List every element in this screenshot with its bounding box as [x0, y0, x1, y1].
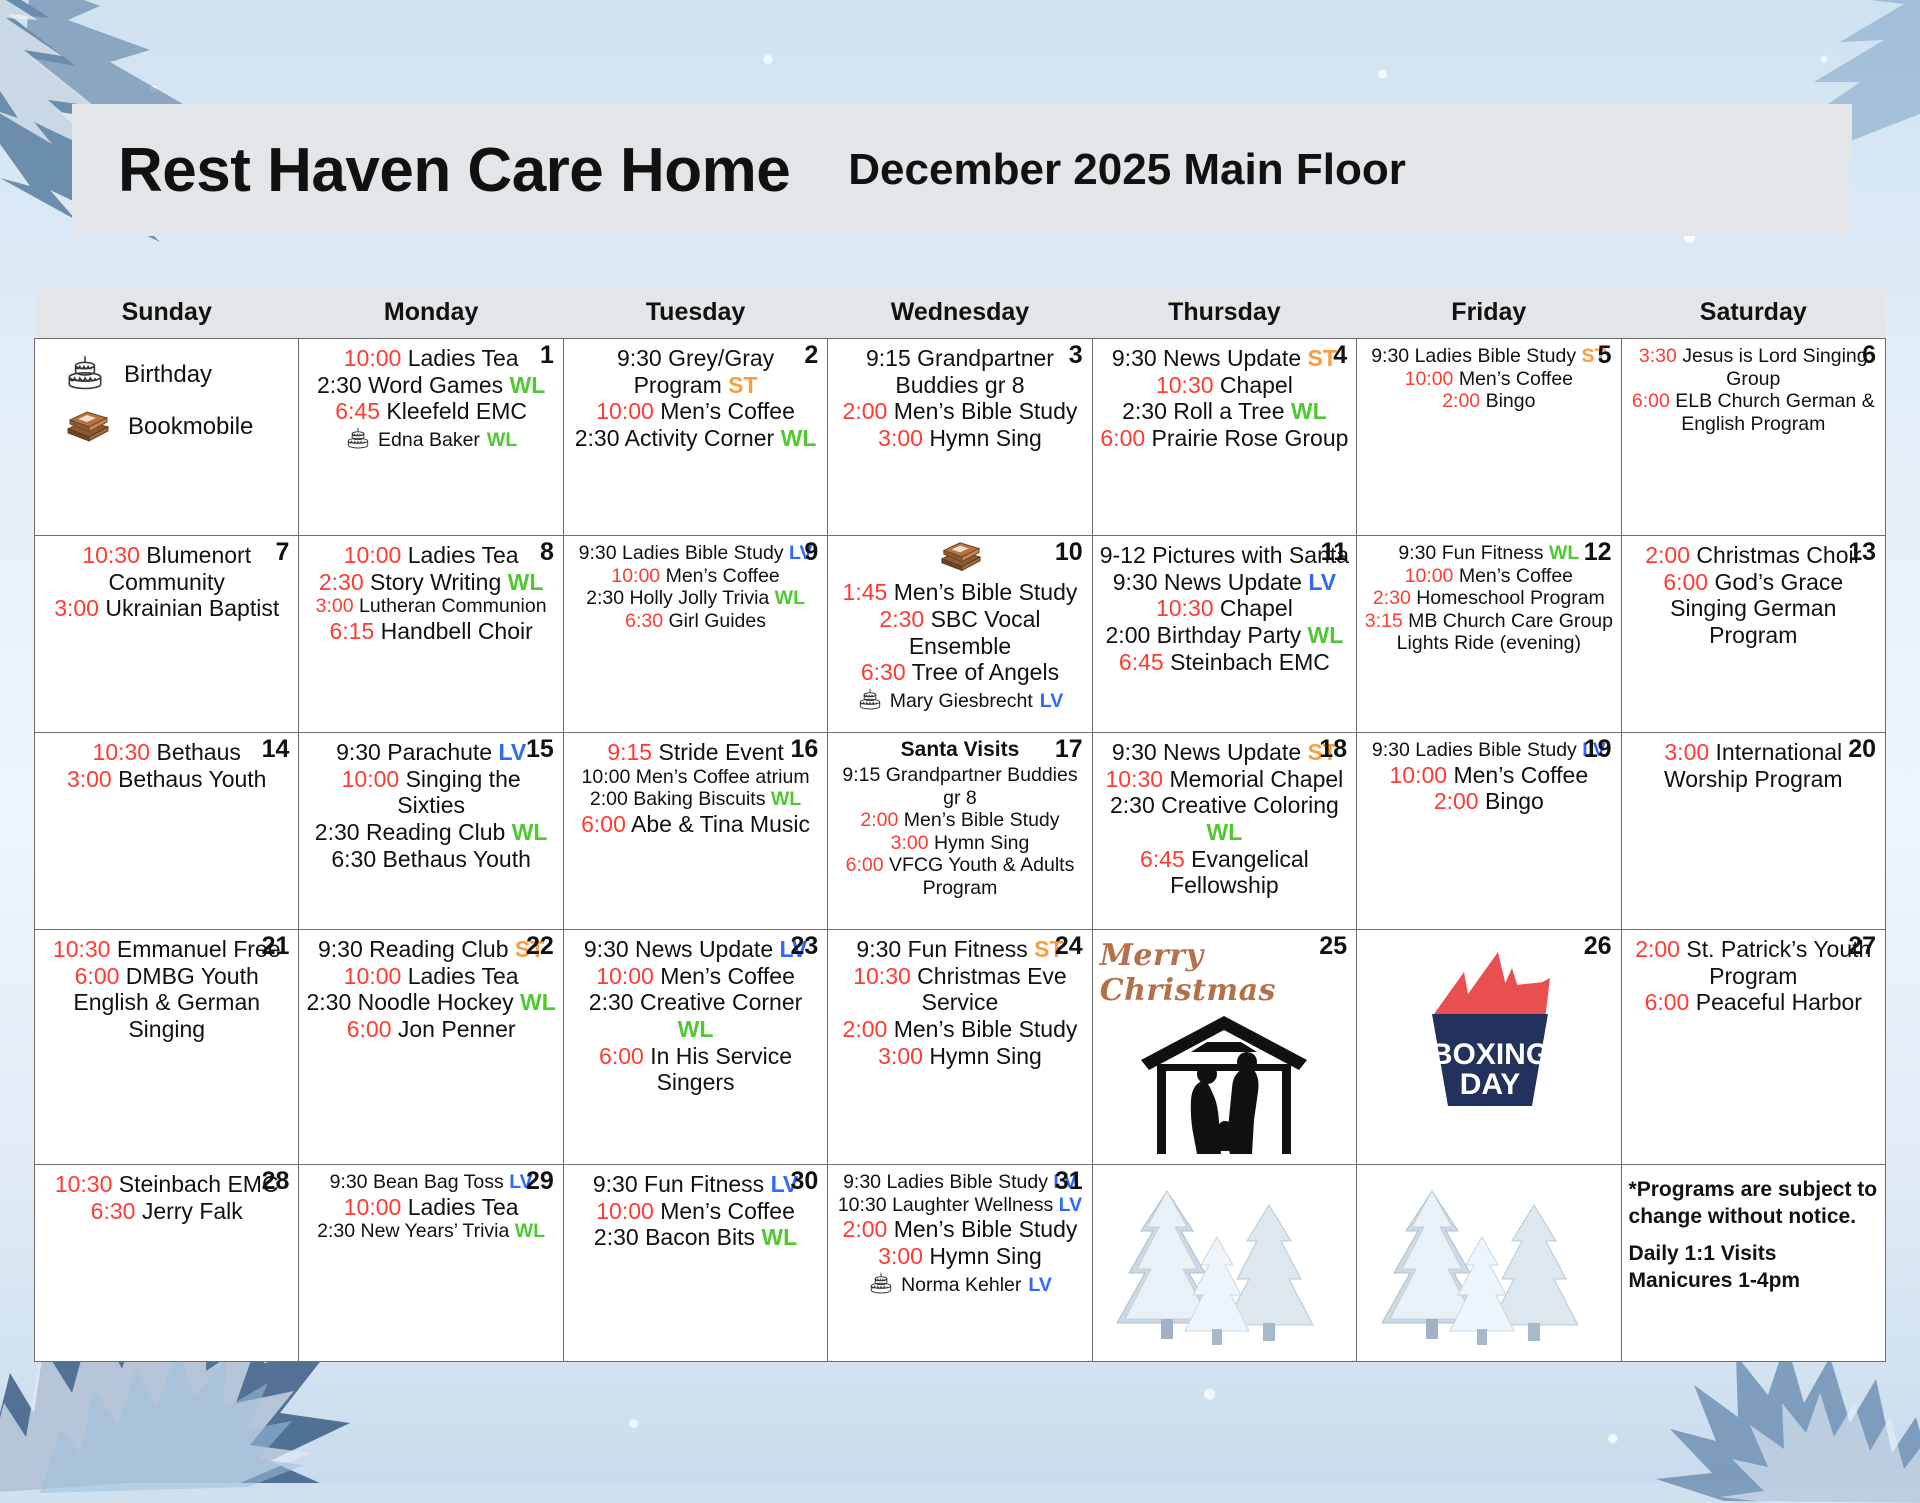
event-time: 2:00 — [1635, 936, 1680, 962]
event-title: Jon Penner — [398, 1016, 516, 1042]
day-events-list: 1:45 Men’s Bible Study2:30 SBC Vocal Ens… — [835, 579, 1084, 686]
calendar-day-cell-23[interactable]: 239:30 News Update LV10:00 Men’s Coffee2… — [563, 930, 827, 1165]
event-time: 9:30 — [1112, 739, 1157, 765]
event-entry: 2:30 Reading Club WL — [306, 819, 555, 846]
event-time: 3:00 — [891, 832, 929, 854]
event-time: 10:00 — [344, 1194, 402, 1220]
event-title: Tree of Angels — [912, 659, 1059, 685]
event-time: 3:15 — [1365, 610, 1403, 632]
program-tag-wl: WL — [520, 989, 556, 1015]
event-entry: 6:15 Handbell Choir — [306, 618, 555, 645]
event-title: ELB Church German & English Program — [1675, 390, 1874, 435]
program-tag-wl: WL — [775, 587, 805, 609]
event-time: 9:30 — [1113, 569, 1158, 595]
calendar-day-cell-16[interactable]: 169:15 Stride Event10:00 Men’s Coffee at… — [563, 733, 827, 930]
event-title: Ladies Tea — [408, 542, 519, 568]
event-time: 6:00 — [1100, 425, 1145, 451]
event-entry: 6:30 Tree of Angels — [835, 659, 1084, 686]
event-entry: 2:00 Baking Biscuits WL — [571, 788, 820, 811]
event-time: 9:30 — [336, 739, 381, 765]
event-time: 9:30 — [318, 936, 363, 962]
event-entry: 10:00 Ladies Tea — [306, 963, 555, 990]
day-number: 29 — [526, 1169, 554, 1194]
cake-icon — [64, 353, 106, 397]
event-title: Handbell Choir — [381, 618, 533, 644]
day-number: 12 — [1584, 540, 1612, 565]
event-title: Ladies Bible Study — [886, 1171, 1048, 1193]
calendar-day-cell-14[interactable]: 1410:30 Bethaus3:00 Bethaus Youth — [35, 733, 299, 930]
event-entry: 6:00 Prairie Rose Group — [1100, 425, 1349, 452]
calendar-day-cell-12[interactable]: 129:30 Fun Fitness WL10:00 Men’s Coffee2… — [1357, 536, 1621, 733]
event-entry: 3:00 International Worship Program — [1629, 739, 1878, 792]
event-entry: 2:30 Holly Jolly Trivia WL — [571, 587, 820, 610]
event-entry: 1:45 Men’s Bible Study — [835, 579, 1084, 606]
calendar-day-cell-30[interactable]: 309:30 Fun Fitness LV10:00 Men’s Coffee2… — [563, 1165, 827, 1362]
event-title: Ladies Tea — [408, 345, 519, 371]
calendar-day-cell-4[interactable]: 49:30 News Update ST10:30 Chapel2:30 Rol… — [1092, 339, 1356, 536]
program-tag-wl: WL — [1291, 398, 1327, 424]
calendar-day-cell-3[interactable]: 39:15 Grandpartner Buddies gr 82:00 Men’… — [828, 339, 1092, 536]
event-entry: 10:30 Emmanuel Free — [42, 936, 291, 963]
event-entry: 2:30 Noodle Hockey WL — [306, 989, 555, 1016]
event-title: Bethaus Youth — [383, 846, 531, 872]
event-time: 2:30 — [879, 606, 924, 632]
event-entry: 9:30 Ladies Bible Study ST — [1364, 345, 1613, 368]
event-entry: 9:30 Ladies Bible Study LV — [571, 542, 820, 565]
event-time: 3:00 — [878, 1243, 923, 1269]
event-entry: 6:00 Abe & Tina Music — [571, 811, 820, 838]
event-time: 2:30 — [1110, 792, 1155, 818]
event-time: 2:00 — [843, 1016, 888, 1042]
day-number: 19 — [1584, 737, 1612, 762]
event-time: 10:00 — [596, 963, 654, 989]
event-time: 9:30 — [617, 345, 662, 371]
event-entry: 3:00 Hymn Sing — [835, 1243, 1084, 1270]
event-entry: 6:00 In His Service Singers — [571, 1043, 820, 1096]
event-entry: 6:00 Jon Penner — [306, 1016, 555, 1043]
day-number: 6 — [1862, 343, 1876, 368]
event-entry: 2:30 Creative Coloring WL — [1100, 792, 1349, 845]
event-entry: 9:30 News Update LV — [1100, 569, 1349, 596]
event-entry: 2:30 New Years’ Trivia WL — [306, 1220, 555, 1243]
event-entry: 2:30 Story Writing WL — [306, 569, 555, 596]
event-time: 9:30 — [1371, 345, 1409, 367]
merry-christmas-text: Merry Christmas — [1100, 938, 1349, 1008]
event-entry: 9:30 Ladies Bible Study LV — [835, 1171, 1084, 1194]
calendar-day-cell-17[interactable]: 17Santa Visits9:15 Grandpartner Buddies … — [828, 733, 1092, 930]
event-entry: 10:30 Chapel — [1100, 372, 1349, 399]
snowy-pine-trees-icon — [1374, 1183, 1604, 1355]
day-events-list: 9:30 Fun Fitness WL10:00 Men’s Coffee2:3… — [1364, 542, 1613, 655]
event-entry: 9:30 Fun Fitness WL — [1364, 542, 1613, 565]
day-number: 30 — [790, 1169, 818, 1194]
event-title: Fun Fitness — [1442, 542, 1544, 564]
day-events-list: 9:15 Stride Event10:00 Men’s Coffee atri… — [571, 739, 820, 838]
program-tag-wl: WL — [508, 569, 544, 595]
event-title: Grandpartner Buddies gr 8 — [895, 345, 1054, 398]
weekday-header-thursday: Thursday — [1092, 290, 1356, 339]
event-title: Hymn Sing — [929, 425, 1041, 451]
event-title: Memorial Chapel — [1169, 766, 1343, 792]
event-time: 2:30 — [586, 587, 624, 609]
birthday-resident-name: Mary Giesbrecht — [890, 690, 1033, 713]
event-title: Pictures with Santa — [1152, 542, 1349, 568]
day-number: 27 — [1848, 934, 1876, 959]
event-title: Men’s Bible Study — [894, 1016, 1078, 1042]
event-time: 10:00 — [342, 766, 400, 792]
event-entry: 6:45 Steinbach EMC — [1100, 649, 1349, 676]
day-number: 5 — [1598, 343, 1612, 368]
calendar-day-cell-11[interactable]: 119-12 Pictures with Santa9:30 News Upda… — [1092, 536, 1356, 733]
event-entry: 2:30 Homeschool Program — [1364, 587, 1613, 610]
day-events-list: 2:00 St. Patrick’s Youth Program6:00 Pea… — [1629, 936, 1878, 1016]
legend-bookmobile-label: Bookmobile — [128, 413, 253, 441]
event-title: Christmas Choir — [1696, 542, 1861, 568]
day-events-list: 9:30 News Update LV10:00 Men’s Coffee2:3… — [571, 936, 820, 1096]
event-entry: 10:30 Christmas Eve Service — [835, 963, 1084, 1016]
event-entry: 10:00 Ladies Tea — [306, 542, 555, 569]
calendar-week-row: Birthday Bookmobile 110:00 Ladies Tea2:3… — [35, 339, 1886, 536]
day-cell-heading: Santa Visits — [835, 738, 1084, 762]
calendar-decoration-cell — [1357, 1165, 1621, 1362]
event-time: 9-12 — [1100, 542, 1146, 568]
event-title: Bingo — [1486, 390, 1536, 412]
event-title: Roll a Tree — [1173, 398, 1284, 424]
program-tag-st: ST — [728, 372, 757, 398]
weekday-header-saturday: Saturday — [1621, 290, 1885, 339]
event-entry: 3:00 Ukrainian Baptist — [42, 595, 291, 622]
program-tag-lv: LV — [1040, 690, 1063, 713]
event-title: Men’s Bible Study — [894, 398, 1078, 424]
calendar-week-row: 1410:30 Bethaus3:00 Bethaus Youth159:30 … — [35, 733, 1886, 930]
calendar-day-cell-25[interactable]: 25 Merry Christmas — [1092, 930, 1356, 1165]
day-number: 15 — [526, 737, 554, 762]
program-tag-wl: WL — [781, 425, 817, 451]
day-events-list: 10:30 Emmanuel Free6:00 DMBG Youth Engli… — [42, 936, 291, 1043]
resident-birthday-entry: Norma Kehler LV — [835, 1271, 1084, 1300]
day-number: 1 — [540, 343, 554, 368]
event-entry: 2:00 Men’s Bible Study — [835, 1016, 1084, 1043]
event-title: Men’s Bible Study — [894, 579, 1078, 605]
calendar-day-cell-26[interactable]: 26 BOXING DAY — [1357, 930, 1621, 1165]
calendar-day-cell-31[interactable]: 319:30 Ladies Bible Study LV10:30 Laught… — [828, 1165, 1092, 1362]
event-entry: 9:30 Fun Fitness ST — [835, 936, 1084, 963]
event-time: 6:00 — [846, 854, 884, 876]
event-time: 6:00 — [599, 1043, 644, 1069]
trees-decoration — [1100, 1169, 1349, 1355]
event-entry: 6:45 Evangelical Fellowship — [1100, 846, 1349, 899]
cake-icon — [868, 1271, 894, 1300]
day-events-list: 10:30 Blumenort Community3:00 Ukrainian … — [42, 542, 291, 622]
event-title: Stride Event — [658, 739, 783, 765]
day-number: 20 — [1848, 737, 1876, 762]
event-title: Ladies Bible Study — [1415, 345, 1577, 367]
calendar-day-cell-20[interactable]: 203:00 International Worship Program — [1621, 733, 1885, 930]
calendar-day-cell-13[interactable]: 132:00 Christmas Choir6:00 God’s Grace S… — [1621, 536, 1885, 733]
event-title: Hymn Sing — [929, 1243, 1041, 1269]
christmas-art: Merry Christmas — [1100, 934, 1349, 1158]
event-title: Ladies Tea — [408, 963, 519, 989]
event-entry: 6:30 Jerry Falk — [42, 1198, 291, 1225]
event-entry: 10:00 Men’s Coffee — [1364, 368, 1613, 391]
event-time: 2:00 — [860, 809, 898, 831]
program-tag-lv: LV — [1028, 1274, 1051, 1297]
day-events-list: 9:30 News Update ST10:30 Memorial Chapel… — [1100, 739, 1349, 899]
event-time: 9:15 — [866, 345, 911, 371]
event-time: 3:00 — [1664, 739, 1709, 765]
event-time: 10:30 — [853, 963, 911, 989]
event-entry: 10:00 Ladies Tea — [306, 345, 555, 372]
day-events-list: 9:30 Ladies Bible Study LV10:00 Men’s Co… — [571, 542, 820, 632]
event-entry: 3:15 MB Church Care Group Lights Ride (e… — [1364, 610, 1613, 655]
monthly-calendar-table: Sunday Monday Tuesday Wednesday Thursday… — [34, 290, 1886, 1362]
event-entry: 6:00 DMBG Youth English & German Singing — [42, 963, 291, 1043]
event-time: 1:45 — [843, 579, 888, 605]
day-number: 2 — [804, 343, 818, 368]
cake-icon — [345, 426, 371, 455]
program-tag-lv: LV — [1308, 569, 1336, 595]
event-entry: 9:15 Stride Event — [571, 739, 820, 766]
event-time: 3:30 — [1639, 345, 1677, 367]
event-title: Hymn Sing — [929, 1043, 1041, 1069]
calendar-day-cell-2[interactable]: 29:30 Grey/Gray Program ST10:00 Men’s Co… — [563, 339, 827, 536]
day-events-list: 3:30 Jesus is Lord Singing Group6:00 ELB… — [1629, 345, 1878, 435]
program-tag-wl: WL — [487, 429, 517, 452]
day-events-list: 10:30 Bethaus3:00 Bethaus Youth — [42, 739, 291, 792]
day-events-list: 9:30 Reading Club ST10:00 Ladies Tea2:30… — [306, 936, 555, 1043]
event-entry: 9:30 News Update ST — [1100, 739, 1349, 766]
day-events-list: 9:30 Ladies Bible Study LV10:00 Men’s Co… — [1364, 739, 1613, 815]
calendar-day-cell-21[interactable]: 2110:30 Emmanuel Free6:00 DMBG Youth Eng… — [35, 930, 299, 1165]
calendar-day-cell-7[interactable]: 710:30 Blumenort Community3:00 Ukrainian… — [35, 536, 299, 733]
event-entry: 6:30 Girl Guides — [571, 610, 820, 633]
event-entry: 9:30 News Update ST — [1100, 345, 1349, 372]
day-number: 11 — [1321, 540, 1347, 565]
event-entry: 9:30 Bean Bag Toss LV — [306, 1171, 555, 1194]
event-entry: 10:30 Bethaus — [42, 739, 291, 766]
event-entry: 10:00 Men’s Coffee — [571, 963, 820, 990]
program-tag-wl: WL — [515, 1220, 545, 1242]
calendar-legend-cell: Birthday Bookmobile — [35, 339, 299, 536]
nativity-scene-icon — [1129, 1008, 1319, 1158]
event-time: 6:15 — [329, 618, 374, 644]
event-entry: 3:00 Hymn Sing — [835, 425, 1084, 452]
cake-icon — [857, 687, 883, 716]
day-events-list: 9:15 Grandpartner Buddies gr 82:00 Men’s… — [835, 345, 1084, 452]
event-time: 3:00 — [316, 595, 354, 617]
day-number: 16 — [790, 737, 818, 762]
event-time: 2:30 — [315, 819, 360, 845]
calendar-day-cell-8[interactable]: 810:00 Ladies Tea2:30 Story Writing WL3:… — [299, 536, 563, 733]
bookmobile-marker — [835, 538, 1084, 577]
calendar-week-row: 2110:30 Emmanuel Free6:00 DMBG Youth Eng… — [35, 930, 1886, 1165]
event-entry: 10:30 Laughter Wellness LV — [835, 1194, 1084, 1217]
event-entry: 2:30 SBC Vocal Ensemble — [835, 606, 1084, 659]
resident-birthday-entry: Edna Baker WL — [306, 426, 555, 455]
event-entry: 2:00 St. Patrick’s Youth Program — [1629, 936, 1878, 989]
event-title: Bean Bag Toss — [373, 1171, 504, 1193]
weekday-header-friday: Friday — [1357, 290, 1621, 339]
event-time: 6:30 — [861, 659, 906, 685]
event-entry: 3:00 Hymn Sing — [835, 1043, 1084, 1070]
day-events-list: 10:30 Steinbach EMC6:30 Jerry Falk — [42, 1171, 291, 1224]
day-events-list: 9:30 Ladies Bible Study LV10:30 Laughter… — [835, 1171, 1084, 1270]
boxing-day-art: BOXING DAY — [1364, 934, 1613, 1112]
event-entry: 10:00 Men’s Coffee — [571, 1198, 820, 1225]
event-entry: 6:00 VFCG Youth & Adults Program — [835, 854, 1084, 899]
event-entry: 9:15 Grandpartner Buddies gr 8 — [835, 345, 1084, 398]
event-time: 6:00 — [1663, 569, 1708, 595]
event-title: Fun Fitness — [644, 1171, 764, 1197]
event-time: 6:00 — [347, 1016, 392, 1042]
event-entry: 2:00 Men’s Bible Study — [835, 1216, 1084, 1243]
event-time: 10:00 — [344, 963, 402, 989]
calendar-day-cell-29[interactable]: 299:30 Bean Bag Toss LV10:00 Ladies Tea2… — [299, 1165, 563, 1362]
weekday-header-sunday: Sunday — [35, 290, 299, 339]
calendar-day-cell-9[interactable]: 99:30 Ladies Bible Study LV10:00 Men’s C… — [563, 536, 827, 733]
month-and-floor-subtitle: December 2025 Main Floor — [848, 145, 1406, 195]
boxing-day-gift-icon: BOXING DAY — [1394, 942, 1584, 1112]
event-title: Men’s Coffee — [666, 565, 780, 587]
day-events-list: 10:00 Ladies Tea2:30 Word Games WL6:45 K… — [306, 345, 555, 425]
event-time: 9:30 — [584, 936, 629, 962]
event-time: 10:00 — [1390, 762, 1448, 788]
event-title: Abe & Tina Music — [631, 811, 810, 837]
svg-text:BOXING: BOXING — [1431, 1038, 1549, 1071]
event-entry: 6:00 God’s Grace Singing German Program — [1629, 569, 1878, 649]
event-time: 2:30 — [1373, 587, 1411, 609]
trees-decoration — [1364, 1169, 1613, 1355]
event-time: 3:00 — [878, 425, 923, 451]
event-title: Bethaus Youth — [118, 766, 266, 792]
event-entry: 2:30 Activity Corner WL — [571, 425, 820, 452]
event-entry: 10:30 Steinbach EMC — [42, 1171, 291, 1198]
event-time: 6:00 — [1632, 390, 1670, 412]
day-events-list: 9:30 Bean Bag Toss LV10:00 Ladies Tea2:3… — [306, 1171, 555, 1243]
event-title: SBC Vocal Ensemble — [909, 606, 1041, 659]
calendar-day-cell-18[interactable]: 189:30 News Update ST10:30 Memorial Chap… — [1092, 733, 1356, 930]
event-time: 10:30 — [82, 542, 140, 568]
event-title: Word Games — [368, 372, 503, 398]
event-time: 2:30 — [589, 989, 634, 1015]
calendar-day-cell-10[interactable]: 10 1:45 Men’s Bible Study2:30 SBC Vocal … — [828, 536, 1092, 733]
day-events-list: 9-12 Pictures with Santa9:30 News Update… — [1100, 542, 1349, 675]
day-number: 25 — [1319, 934, 1347, 959]
day-number: 24 — [1055, 934, 1083, 959]
calendar-day-cell-28[interactable]: 2810:30 Steinbach EMC6:30 Jerry Falk — [35, 1165, 299, 1362]
day-number: 21 — [262, 934, 290, 959]
snowy-pine-trees-icon — [1109, 1183, 1339, 1355]
event-title: Men’s Coffee — [660, 1198, 795, 1224]
event-time: 10:00 — [344, 542, 402, 568]
calendar-day-cell-5[interactable]: 59:30 Ladies Bible Study ST10:00 Men’s C… — [1357, 339, 1621, 536]
event-entry: 2:00 Birthday Party WL — [1100, 622, 1349, 649]
event-entry: 9:30 Parachute LV — [306, 739, 555, 766]
day-number: 22 — [526, 934, 554, 959]
event-title: Activity Corner — [625, 425, 775, 451]
event-time: 6:45 — [1140, 846, 1185, 872]
event-title: Noodle Hockey — [358, 989, 514, 1015]
event-title: Jesus is Lord Singing Group — [1682, 345, 1867, 390]
event-time: 10:00 — [344, 345, 402, 371]
event-title: News Update — [1163, 739, 1301, 765]
event-time: 10:00 — [582, 766, 631, 788]
calendar-day-cell-22[interactable]: 229:30 Reading Club ST10:00 Ladies Tea2:… — [299, 930, 563, 1165]
event-entry: 3:00 Hymn Sing — [835, 832, 1084, 855]
weekday-header-wednesday: Wednesday — [828, 290, 1092, 339]
event-entry: 9:30 News Update LV — [571, 936, 820, 963]
notes-line-1: *Programs are subject to change without … — [1629, 1177, 1878, 1231]
event-title: Chapel — [1220, 372, 1293, 398]
event-time: 10:00 — [611, 565, 660, 587]
event-time: 10:30 — [1156, 595, 1214, 621]
event-time: 9:30 — [579, 542, 617, 564]
event-title: Baking Biscuits — [633, 788, 765, 810]
event-title: Evangelical Fellowship — [1170, 846, 1309, 899]
event-entry: 2:30 Bacon Bits WL — [571, 1224, 820, 1251]
event-entry: 3:00 Lutheran Communion — [306, 595, 555, 618]
event-time: 3:00 — [54, 595, 99, 621]
event-entry: 10:00 Men’s Coffee — [571, 398, 820, 425]
day-number: 10 — [1055, 540, 1083, 565]
calendar-day-cell-6[interactable]: 63:30 Jesus is Lord Singing Group6:00 EL… — [1621, 339, 1885, 536]
day-events-list: 2:00 Christmas Choir6:00 God’s Grace Sin… — [1629, 542, 1878, 649]
calendar-day-cell-27[interactable]: 272:00 St. Patrick’s Youth Program6:00 P… — [1621, 930, 1885, 1165]
notes-line-2: Daily 1:1 VisitsManicures 1-4pm — [1629, 1241, 1878, 1295]
day-number: 8 — [540, 540, 554, 565]
event-entry: 2:30 Word Games WL — [306, 372, 555, 399]
event-title: Reading Club — [369, 936, 508, 962]
event-title: Emmanuel Free — [117, 936, 281, 962]
day-events-list: 9:30 Fun Fitness LV10:00 Men’s Coffee2:3… — [571, 1171, 820, 1251]
weekday-header-monday: Monday — [299, 290, 563, 339]
event-time: 6:00 — [581, 811, 626, 837]
day-number: 13 — [1848, 540, 1876, 565]
event-title: Peaceful Harbor — [1696, 989, 1862, 1015]
event-title: Singing the Sixties — [397, 766, 520, 819]
event-time: 10:00 — [596, 398, 654, 424]
event-entry: 6:30 Bethaus Youth — [306, 846, 555, 873]
calendar-day-cell-19[interactable]: 199:30 Ladies Bible Study LV10:00 Men’s … — [1357, 733, 1621, 930]
calendar-day-cell-1[interactable]: 110:00 Ladies Tea2:30 Word Games WL6:45 … — [299, 339, 563, 536]
weekday-header-tuesday: Tuesday — [563, 290, 827, 339]
calendar-day-cell-24[interactable]: 249:30 Fun Fitness ST10:30 Christmas Eve… — [828, 930, 1092, 1165]
event-title: Men’s Bible Study — [894, 1216, 1078, 1242]
event-title: Men’s Coffee — [1459, 368, 1573, 390]
event-time: 9:30 — [330, 1171, 368, 1193]
event-time: 10:00 — [1405, 368, 1454, 390]
event-title: Men’s Coffee atrium — [636, 766, 810, 788]
event-time: 10:00 — [1405, 565, 1454, 587]
event-entry: 10:00 Ladies Tea — [306, 1194, 555, 1221]
calendar-day-cell-15[interactable]: 159:30 Parachute LV10:00 Singing the Six… — [299, 733, 563, 930]
event-title: Hymn Sing — [934, 832, 1029, 854]
event-title: Chapel — [1220, 595, 1293, 621]
event-entry: 3:30 Jesus is Lord Singing Group — [1629, 345, 1878, 390]
event-entry: 6:00 Peaceful Harbor — [1629, 989, 1878, 1016]
event-title: In His Service Singers — [650, 1043, 792, 1096]
event-time: 9:30 — [1398, 542, 1436, 564]
day-events-list: 9:15 Grandpartner Buddies gr 82:00 Men’s… — [835, 764, 1084, 900]
day-number: 9 — [804, 540, 818, 565]
day-number: 4 — [1333, 343, 1347, 368]
program-tag-wl: WL — [771, 788, 801, 810]
event-title: Ladies Bible Study — [1415, 739, 1577, 761]
event-time: 2:30 — [317, 1220, 355, 1242]
day-events-list: 10:00 Ladies Tea2:30 Story Writing WL3:0… — [306, 542, 555, 645]
legend-birthday-label: Birthday — [124, 361, 212, 389]
event-time: 2:00 — [843, 398, 888, 424]
